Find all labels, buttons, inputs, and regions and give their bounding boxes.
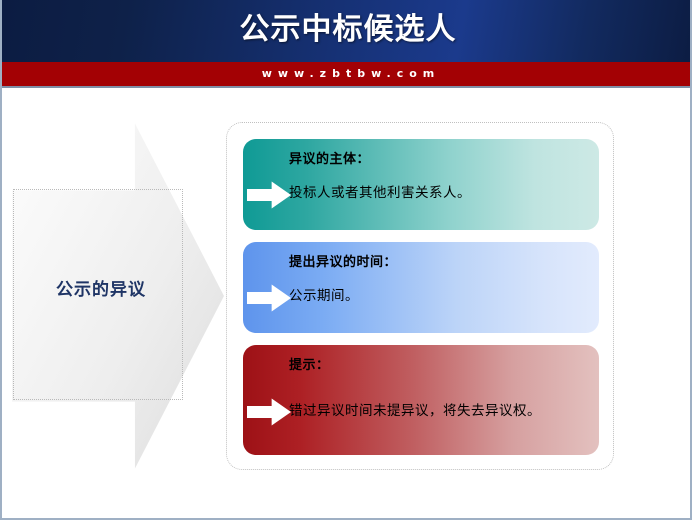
info-box-title: 异议的主体： (289, 148, 370, 167)
info-box: 提示： 错过异议时间未提异议，将失去异议权。 (243, 345, 599, 455)
info-box-title: 提示： (289, 354, 330, 373)
bullet-marker (247, 397, 291, 427)
bullet-marker (247, 180, 291, 210)
left-arrow-label: 公示的异议 (16, 275, 186, 300)
info-box-body: 公示期间。 (289, 284, 359, 304)
right-arrow-icon (247, 283, 291, 313)
info-box: 提出异议的时间： 公示期间。 (243, 242, 599, 333)
content-panel: 异议的主体： 投标人或者其他利害关系人。 提出异议的时间： 公示期间。 提示： … (226, 122, 614, 470)
page-title: 公示中标候选人 (2, 9, 692, 51)
info-box-title: 提出异议的时间： (289, 251, 397, 270)
header-website-url: www.zbtbw.com (2, 62, 692, 86)
left-arrow-group: 公示的异议 (12, 120, 224, 472)
right-arrow-icon (247, 397, 291, 427)
bullet-marker (247, 283, 291, 313)
info-box: 异议的主体： 投标人或者其他利害关系人。 (243, 139, 599, 230)
slide-canvas: 公示中标候选人 www.zbtbw.com 公示的异议 异议的主体： 投标人或者… (0, 0, 692, 520)
info-box-body: 投标人或者其他利害关系人。 (289, 181, 471, 201)
info-box-body: 错过异议时间未提异议，将失去异议权。 (289, 399, 541, 419)
right-arrow-icon (247, 180, 291, 210)
header-divider (2, 86, 692, 88)
